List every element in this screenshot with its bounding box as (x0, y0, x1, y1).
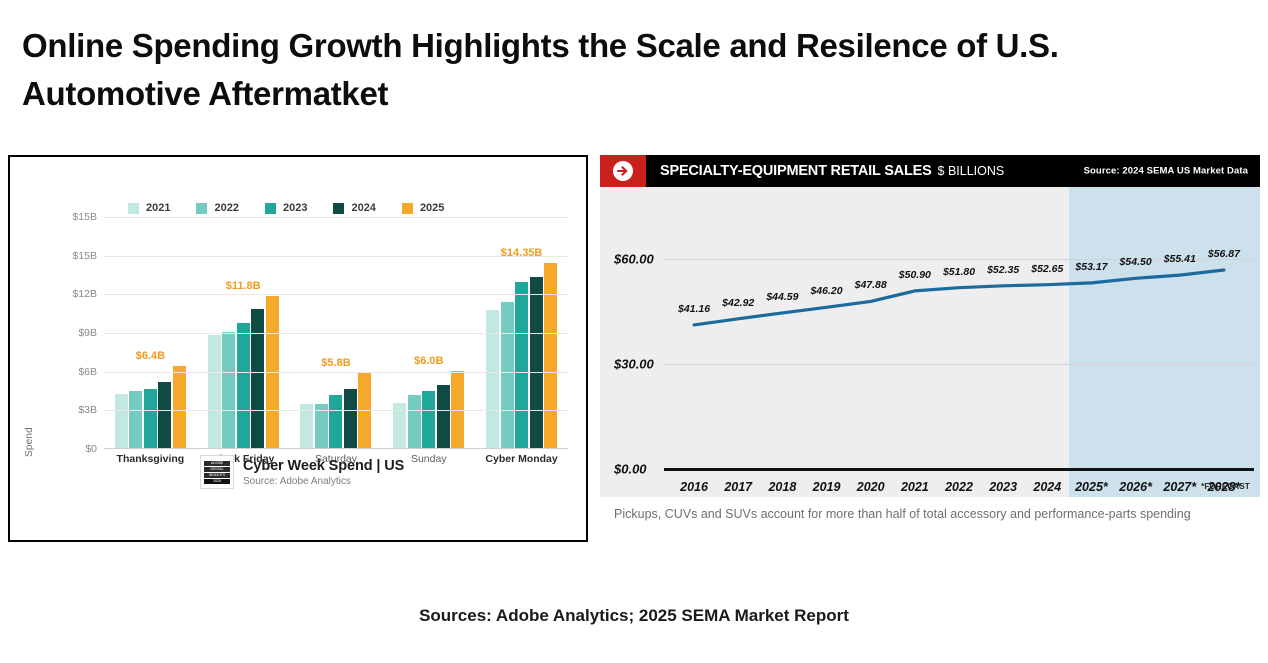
bar-chart-y-axis-title: Spend (24, 427, 35, 457)
line-data-label: $51.80 (943, 266, 975, 278)
sema-header-source: Source: 2024 SEMA US Market Data (1084, 166, 1248, 177)
page-title: Online Spending Growth Highlights the Sc… (22, 22, 1132, 118)
line-x-tick-label: 2028* (1208, 480, 1241, 494)
line-x-tick-label: 2024 (1033, 480, 1061, 494)
bar-gridline (104, 372, 568, 373)
line-x-tick-label: 2022 (945, 480, 973, 494)
sources-line: Sources: Adobe Analytics; 2025 SEMA Mark… (0, 606, 1268, 626)
sema-line-chart-plot: *FORECAST $60.00$30.00$0.00$41.16$42.92$… (600, 187, 1260, 497)
sema-header-bar: SPECIALTY-EQUIPMENT RETAIL SALES $ BILLI… (600, 155, 1260, 187)
legend-item-2021[interactable]: 2021 (128, 202, 170, 214)
line-x-tick-label: 2018 (768, 480, 796, 494)
line-data-label: $46.20 (810, 285, 842, 297)
line-x-tick-label: 2027* (1163, 480, 1196, 494)
bar-x-tick-label: Cyber Monday (477, 453, 567, 465)
legend-label: 2025 (420, 202, 444, 214)
line-data-label: $44.59 (766, 291, 798, 303)
bar-gridline (104, 217, 568, 218)
adobe-bar-chart-panel: 20212022202320242025 Spend $15B$15B$12B$… (8, 155, 588, 542)
sema-header-title: SPECIALTY-EQUIPMENT RETAIL SALES (660, 163, 932, 179)
bar-gridline (104, 410, 568, 411)
line-data-label: $56.87 (1208, 248, 1240, 260)
legend-label: 2021 (146, 202, 170, 214)
bar-chart-footer-source: Source: Adobe Analytics (243, 476, 404, 487)
bar-2022[interactable] (408, 395, 421, 448)
legend-label: 2022 (214, 202, 238, 214)
legend-item-2023[interactable]: 2023 (265, 202, 307, 214)
bar-y-tick-label: $9B (78, 327, 97, 339)
line-x-tick-label: 2021 (901, 480, 929, 494)
legend-swatch-icon (128, 203, 139, 214)
line-data-label: $55.41 (1164, 253, 1196, 265)
sema-line-chart-panel: SPECIALTY-EQUIPMENT RETAIL SALES $ BILLI… (600, 155, 1260, 535)
bar-y-tick-label: $3B (78, 404, 97, 416)
adobe-analytics-footer: ADOBEDIGITALINSIGHTS2025 Cyber Week Spen… (200, 455, 404, 489)
line-x-tick-label: 2025* (1075, 480, 1108, 494)
bar-2023[interactable] (422, 391, 435, 448)
bar-x-tick-label: Thanksgiving (105, 453, 195, 465)
bar-value-label: $5.8B (321, 357, 350, 369)
line-x-tick-label: 2016 (680, 480, 708, 494)
sema-header-units: $ BILLIONS (938, 164, 1005, 178)
bar-y-tick-label: $15B (72, 211, 97, 223)
legend-swatch-icon (402, 203, 413, 214)
bar-chart-grid: $6.4B$11.8B$5.8B$6.0B$14.35B (104, 217, 568, 449)
bar-chart-plot: $15B$15B$12B$9B$6B$3B$0 $6.4B$11.8B$5.8B… (58, 217, 570, 489)
legend-swatch-icon (196, 203, 207, 214)
bar-chart-legend: 20212022202320242025 (128, 202, 548, 214)
line-data-label: $52.65 (1031, 263, 1063, 275)
legend-label: 2023 (283, 202, 307, 214)
bar-gridline (104, 256, 568, 257)
line-x-tick-label: 2020 (857, 480, 885, 494)
bar-y-tick-label: $12B (72, 288, 97, 300)
adobe-logo-line: INSIGHTS (204, 473, 230, 478)
bar-2024[interactable] (251, 309, 264, 448)
line-data-label: $54.50 (1120, 256, 1152, 268)
bar-2021[interactable] (486, 310, 499, 448)
line-data-label: $52.35 (987, 264, 1019, 276)
adobe-logo-line: ADOBE (204, 461, 230, 466)
bar-2024[interactable] (344, 389, 357, 448)
adobe-digital-insights-logo-icon: ADOBEDIGITALINSIGHTS2025 (200, 455, 234, 489)
bar-chart-y-axis-labels: $15B$15B$12B$9B$6B$3B$0 (58, 217, 102, 449)
line-data-label: $50.90 (899, 269, 931, 281)
bar-2024[interactable] (437, 385, 450, 448)
adobe-logo-line: 2025 (204, 479, 230, 484)
arrow-right-circle-icon (600, 155, 646, 187)
bar-2025[interactable] (451, 371, 464, 448)
legend-item-2022[interactable]: 2022 (196, 202, 238, 214)
bar-2023[interactable] (329, 395, 342, 448)
bar-2024[interactable] (158, 382, 171, 448)
line-x-tick-label: 2026* (1119, 480, 1152, 494)
line-data-label: $42.92 (722, 297, 754, 309)
bar-value-label: $6.0B (414, 355, 443, 367)
adobe-logo-line: DIGITAL (204, 467, 230, 472)
line-x-tick-label: 2019 (813, 480, 841, 494)
bar-y-tick-label: $6B (78, 366, 97, 378)
legend-swatch-icon (265, 203, 276, 214)
line-data-label: $53.17 (1075, 261, 1107, 273)
legend-swatch-icon (333, 203, 344, 214)
legend-label: 2024 (351, 202, 375, 214)
bar-y-tick-label: $15B (72, 250, 97, 262)
bar-2023[interactable] (144, 389, 157, 448)
bar-value-label: $14.35B (501, 247, 543, 259)
sales-trend-line (600, 187, 1260, 497)
slide-canvas: Online Spending Growth Highlights the Sc… (0, 0, 1268, 663)
bar-chart-footer-title: Cyber Week Spend | US (243, 458, 404, 474)
bar-2021[interactable] (115, 394, 128, 448)
bar-2023[interactable] (515, 282, 528, 448)
bar-2022[interactable] (129, 391, 142, 448)
legend-item-2025[interactable]: 2025 (402, 202, 444, 214)
sema-chart-caption: Pickups, CUVs and SUVs account for more … (614, 507, 1191, 521)
bar-value-label: $6.4B (136, 350, 165, 362)
bar-gridline (104, 333, 568, 334)
bar-2022[interactable] (501, 302, 514, 448)
legend-item-2024[interactable]: 2024 (333, 202, 375, 214)
bar-gridline (104, 294, 568, 295)
bar-2025[interactable] (173, 366, 186, 448)
bar-y-tick-label: $0 (85, 443, 97, 455)
line-data-label: $41.16 (678, 303, 710, 315)
bar-2022[interactable] (222, 332, 235, 448)
bar-2024[interactable] (530, 277, 543, 448)
bar-2021[interactable] (208, 335, 221, 448)
line-data-label: $47.88 (855, 279, 887, 291)
line-x-tick-label: 2023 (989, 480, 1017, 494)
line-x-tick-label: 2017 (724, 480, 752, 494)
bar-2025[interactable] (544, 263, 557, 448)
bar-2023[interactable] (237, 323, 250, 448)
bar-value-label: $11.8B (226, 280, 261, 292)
